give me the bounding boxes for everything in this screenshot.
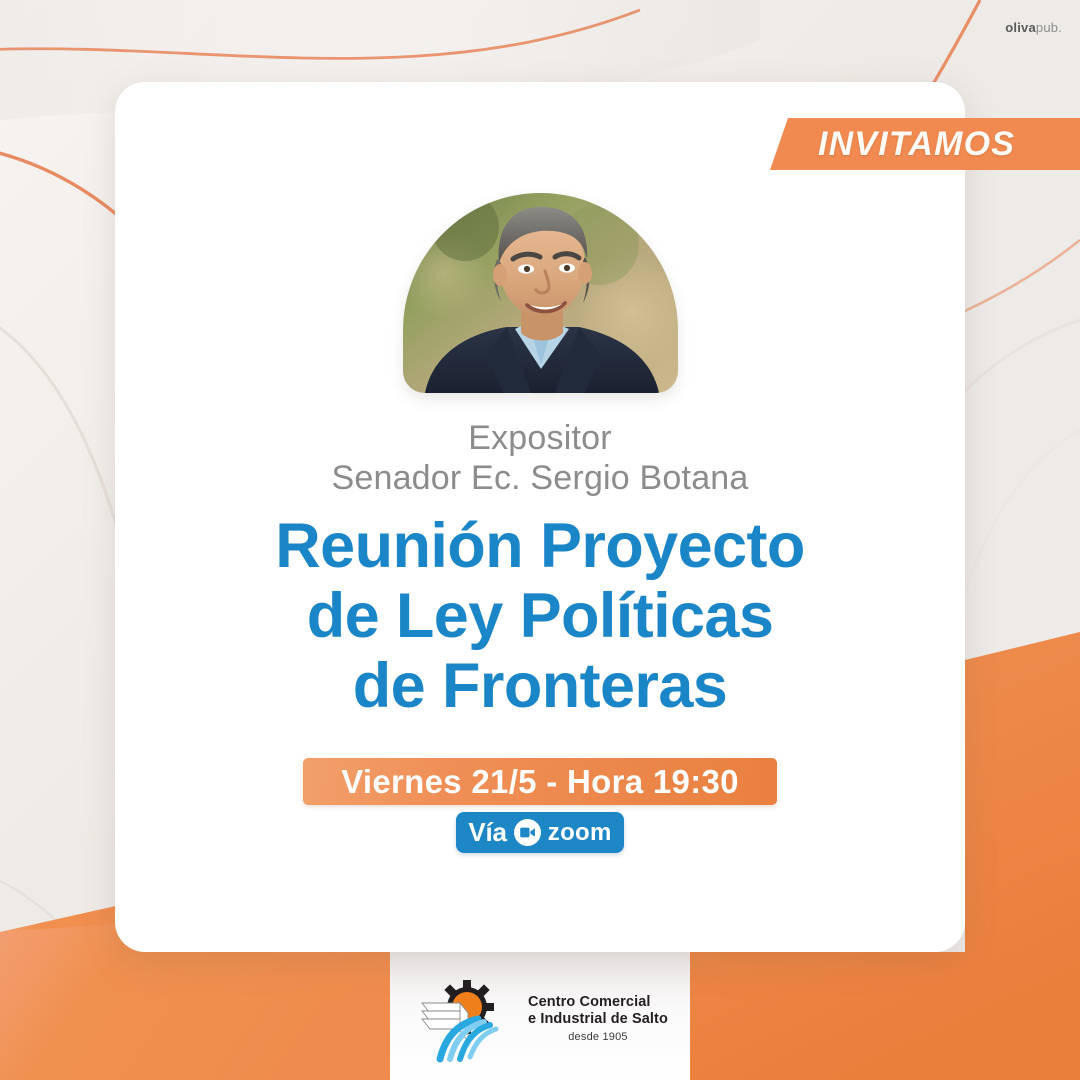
logo-line-1: Centro Comercial (528, 994, 668, 1011)
olivapub-watermark-rest: pub. (1036, 20, 1062, 35)
zoom-label: zoom (548, 819, 612, 847)
logo-tagline: desde 1905 (528, 1031, 668, 1044)
speaker-role: Expositor (115, 418, 965, 458)
organization-logo-plate: Centro Comercial e Industrial de Salto d… (390, 958, 690, 1080)
event-datetime-band: Viernes 21/5 - Hora 19:30 (303, 758, 777, 805)
invitamos-label: INVITAMOS (818, 125, 1015, 164)
event-title-line-3: de Fronteras (115, 652, 965, 722)
speaker-name: Senador Ec. Sergio Botana (115, 458, 965, 498)
cis-logo-icon (412, 973, 520, 1065)
speaker-block: Expositor Senador Ec. Sergio Botana (115, 418, 965, 498)
event-title: Reunión Proyecto de Ley Políticas de Fro… (115, 512, 965, 722)
event-title-line-2: de Ley Políticas (115, 582, 965, 652)
poster-canvas: Centro Comercial e Industrial de Salto d… (0, 0, 1080, 1080)
zoom-camera-icon (514, 819, 541, 846)
via-label: Vía (468, 817, 506, 848)
logo-line-2: e Industrial de Salto (528, 1011, 668, 1028)
via-zoom-badge[interactable]: Vía zoom (456, 812, 624, 853)
olivapub-watermark: olivapub. (1005, 20, 1062, 35)
invitamos-ribbon: INVITAMOS (770, 118, 1080, 170)
event-datetime-text: Viernes 21/5 - Hora 19:30 (341, 763, 739, 801)
olivapub-watermark-bold: oliva (1005, 20, 1036, 35)
event-title-line-1: Reunión Proyecto (115, 512, 965, 582)
